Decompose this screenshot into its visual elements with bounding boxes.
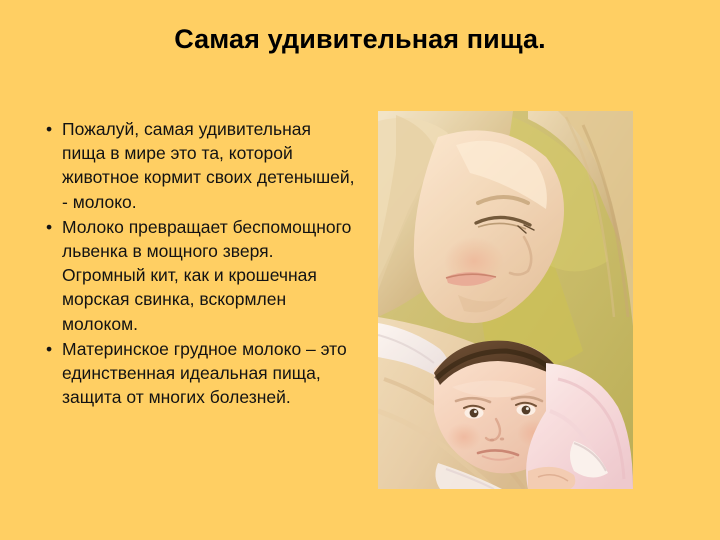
bullet-list: • Пожалуй, самая удивительная пища в мир…: [38, 117, 356, 410]
list-item: • Пожалуй, самая удивительная пища в мир…: [38, 117, 356, 214]
page-title: Самая удивительная пища.: [0, 22, 720, 56]
mother-holding-baby-photo: [378, 111, 633, 489]
list-item: • Материнское грудное молоко – это единс…: [38, 337, 356, 410]
list-item-text: Молоко превращает беспомощного львенка в…: [62, 215, 356, 336]
bullet-point-icon: •: [46, 117, 60, 141]
list-item-text: Пожалуй, самая удивительная пища в мире …: [62, 117, 356, 214]
list-item: • Молоко превращает беспомощного львенка…: [38, 215, 356, 336]
list-item-text: Материнское грудное молоко – это единств…: [62, 337, 356, 410]
presentation-slide: Самая удивительная пища. • Пожалуй, сама…: [0, 0, 720, 540]
bullet-point-icon: •: [46, 215, 60, 239]
bullet-point-icon: •: [46, 337, 60, 361]
